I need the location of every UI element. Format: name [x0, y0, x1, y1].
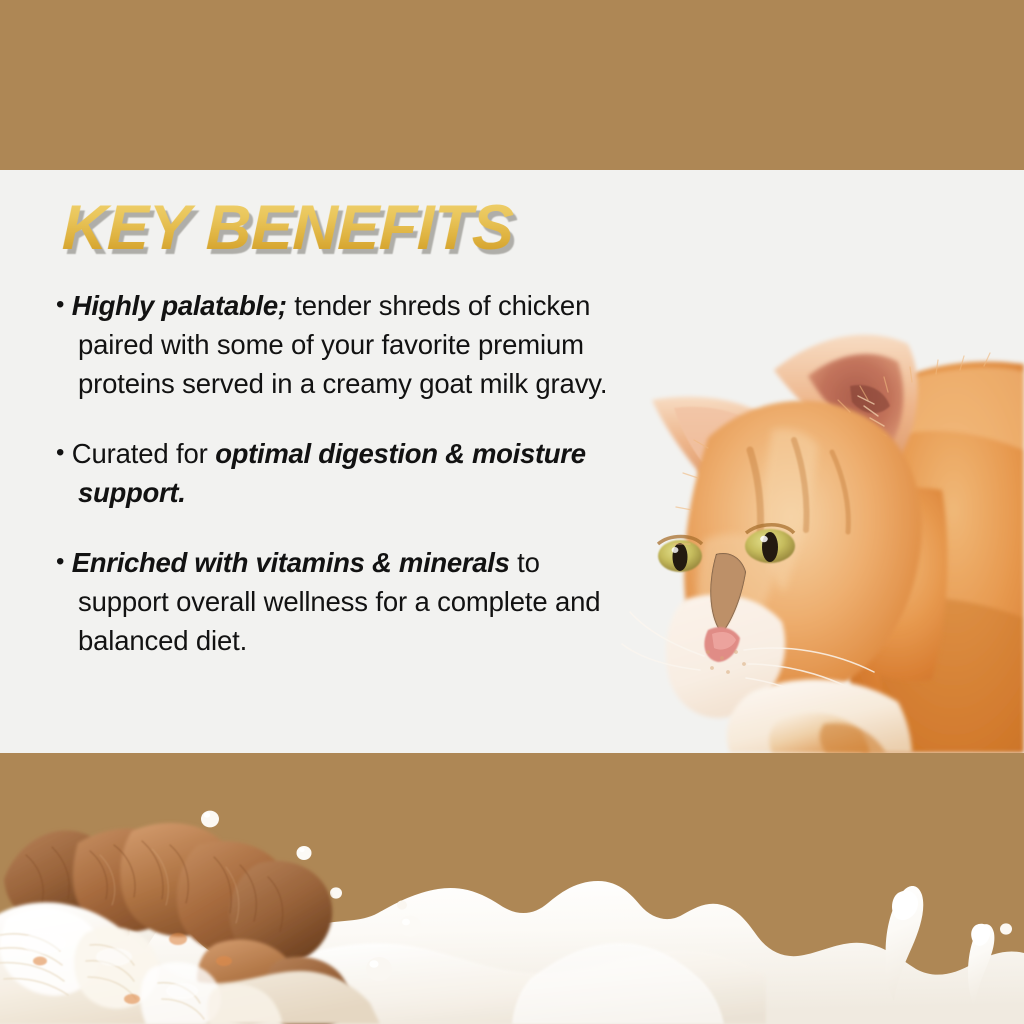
bullet-dot-icon: • [56, 291, 64, 318]
bullet-dot-icon: • [56, 439, 64, 466]
list-item: • Highly palatable; tender shreds of chi… [56, 286, 622, 403]
bullet-body-text: Curated for [72, 438, 215, 469]
list-item: • Curated for optimal digestion & moistu… [56, 434, 622, 512]
bullet-emphasis-text: Enriched with vitamins & minerals [72, 547, 510, 578]
meat-chunks-in-milk-photo [0, 793, 402, 1024]
orange-tabby-cat-photo [612, 300, 1024, 753]
top-brown-band [0, 0, 1024, 170]
key-benefits-heading-wrap: KEY BENEFITS [62, 196, 513, 260]
bullet-dot-icon: • [56, 548, 64, 575]
key-benefits-list: • Highly palatable; tender shreds of chi… [56, 286, 622, 660]
bullet-emphasis-text: Highly palatable; [72, 290, 287, 321]
bottom-brown-band [0, 753, 1024, 1024]
page-title: KEY BENEFITS [61, 196, 514, 260]
poster-canvas: KEY BENEFITS • Highly palatable; tender … [0, 0, 1024, 1024]
list-item: • Enriched with vitamins & minerals to s… [56, 543, 622, 660]
